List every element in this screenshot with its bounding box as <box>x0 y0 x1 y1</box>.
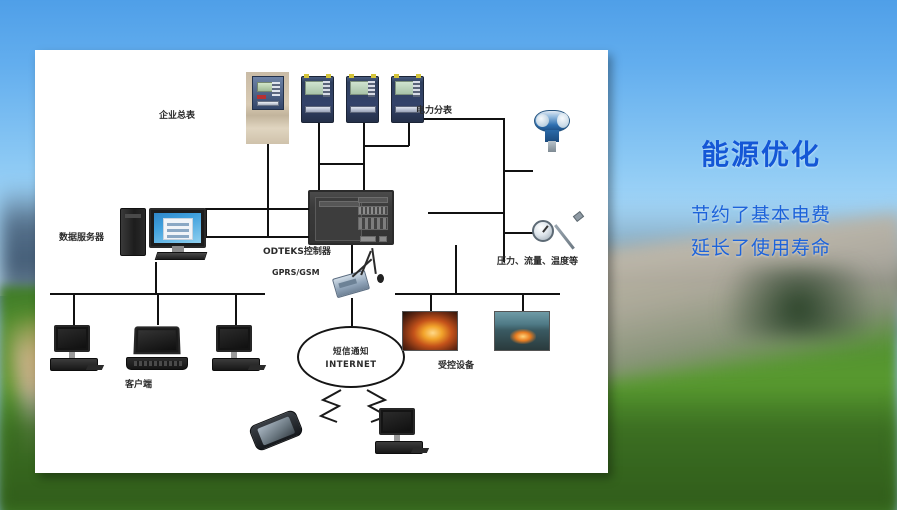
remote-base <box>375 441 423 454</box>
controller-screen-titlebar <box>319 201 360 207</box>
server-tower <box>120 208 146 256</box>
wire-server-to-controller-lower <box>205 236 309 238</box>
signal-zigzag-left <box>297 388 343 426</box>
modem-body <box>332 270 370 299</box>
meter-lcd <box>257 82 273 92</box>
wire-controller-to-equipment <box>455 245 457 293</box>
submeter1-terminal <box>305 106 331 113</box>
pressure-transmitter[interactable] <box>532 108 572 154</box>
wire-client1-drop <box>73 293 75 325</box>
label-enterprise-meter: 企业总表 <box>159 112 195 121</box>
controller-label-strip <box>358 197 388 203</box>
label-data-server: 数据服务器 <box>59 234 104 243</box>
meter-terminal-strip <box>257 101 279 106</box>
controller-button-secondary[interactable] <box>379 236 387 242</box>
wire-bus-to-controller-b <box>363 145 365 190</box>
temperature-gauge[interactable] <box>532 220 554 242</box>
controller-button-primary[interactable] <box>360 236 376 242</box>
background-shrub <box>700 265 897 336</box>
wire-submeter3-bus <box>363 145 409 147</box>
wire-server-to-controller-upper <box>205 208 309 210</box>
wire-to-transmitter <box>503 170 533 172</box>
server-keyboard <box>155 252 208 260</box>
diagram-panel: 企业总表 电力分表 <box>35 50 608 473</box>
transmitter-cover-left <box>536 114 549 127</box>
data-server[interactable] <box>120 198 206 260</box>
furnace-photo-2 <box>494 311 550 351</box>
remote-desktop[interactable] <box>375 408 423 454</box>
controller-screen <box>315 197 362 241</box>
label-clients: 客户端 <box>125 381 152 390</box>
client-laptop[interactable] <box>126 326 188 370</box>
wire-submeter3-drop <box>408 122 410 146</box>
submeter3-tab-left <box>394 74 399 78</box>
wire-submeter1-drop <box>318 122 320 164</box>
odteks-controller[interactable] <box>308 190 394 245</box>
wire-to-gauge <box>503 232 533 234</box>
mobile-phone[interactable] <box>248 409 304 453</box>
internet-cloud: 短信通知 INTERNET <box>297 326 405 388</box>
label-gprs-gsm: GPRS/GSM <box>272 269 320 277</box>
power-submeter-2[interactable] <box>346 76 379 123</box>
wire-submeter-bus <box>318 163 364 165</box>
client-desktop-left[interactable] <box>50 325 98 371</box>
laptop-keyboard <box>126 357 188 370</box>
cloud-line-internet: INTERNET <box>325 360 376 370</box>
client-left-base <box>50 358 98 371</box>
power-submeter-1[interactable] <box>301 76 334 123</box>
server-monitor <box>149 208 206 248</box>
wire-enterprise-to-controller <box>267 142 269 238</box>
transmitter-cover-right <box>557 113 569 128</box>
label-power-submeter: 电力分表 <box>416 107 452 116</box>
label-odteks-controller: ODTEKS控制器 <box>263 248 331 257</box>
laptop-screen <box>133 326 180 354</box>
wire-bus-to-controller-a <box>318 163 320 190</box>
controller-terminal-row <box>358 206 388 215</box>
wire-client2-drop <box>157 293 159 325</box>
remote-monitor <box>379 408 415 435</box>
submeter1-tab-right <box>326 74 331 78</box>
submeter2-terminal <box>350 106 376 113</box>
wire-modem-to-cloud <box>351 298 353 326</box>
diagram-canvas: 企业总表 电力分表 <box>35 50 608 473</box>
modem-antenna-bulb <box>377 274 384 283</box>
gprs-modem[interactable] <box>334 274 368 294</box>
meter-enclosure <box>252 76 284 110</box>
furnace-photo-1 <box>402 311 458 351</box>
label-controlled-equipment: 受控设备 <box>438 362 474 371</box>
wire-sensor-trunk <box>503 118 505 262</box>
submeter2-tab-right <box>371 74 376 78</box>
wire-equipment-bus <box>395 293 560 295</box>
cloud-line-sms: 短信通知 <box>333 345 369 357</box>
wire-sensor-to-controller <box>428 212 505 214</box>
wire-furnace2-drop <box>522 293 524 311</box>
wire-controller-to-modem <box>351 245 353 275</box>
client-desktop-right[interactable] <box>212 325 260 371</box>
submeter1-tab-left <box>304 74 309 78</box>
modem-antenna-2 <box>371 248 377 274</box>
label-sensors: 压力、流量、温度等 <box>497 258 578 267</box>
wire-client3-drop <box>235 293 237 325</box>
slide-stage: 企业总表 电力分表 <box>0 0 897 510</box>
meter-keypad <box>272 82 280 96</box>
meter-indicator-led <box>257 95 266 99</box>
wire-furnace1-drop <box>430 293 432 311</box>
transmitter-process-connection <box>548 141 556 152</box>
submeter3-tab-right <box>416 74 421 78</box>
submeter2-tab-left <box>349 74 354 78</box>
server-app-window <box>163 218 193 240</box>
client-right-monitor <box>216 325 252 352</box>
gauge-probe-head <box>573 211 584 222</box>
controller-panel <box>358 197 388 242</box>
client-right-base <box>212 358 260 371</box>
enterprise-meter[interactable] <box>246 72 289 144</box>
gauge-probe-stem <box>554 224 574 249</box>
controller-keypad <box>358 217 388 230</box>
wire-server-to-client-bus <box>155 262 157 294</box>
client-left-monitor <box>54 325 90 352</box>
server-monitor-screen <box>154 213 201 243</box>
